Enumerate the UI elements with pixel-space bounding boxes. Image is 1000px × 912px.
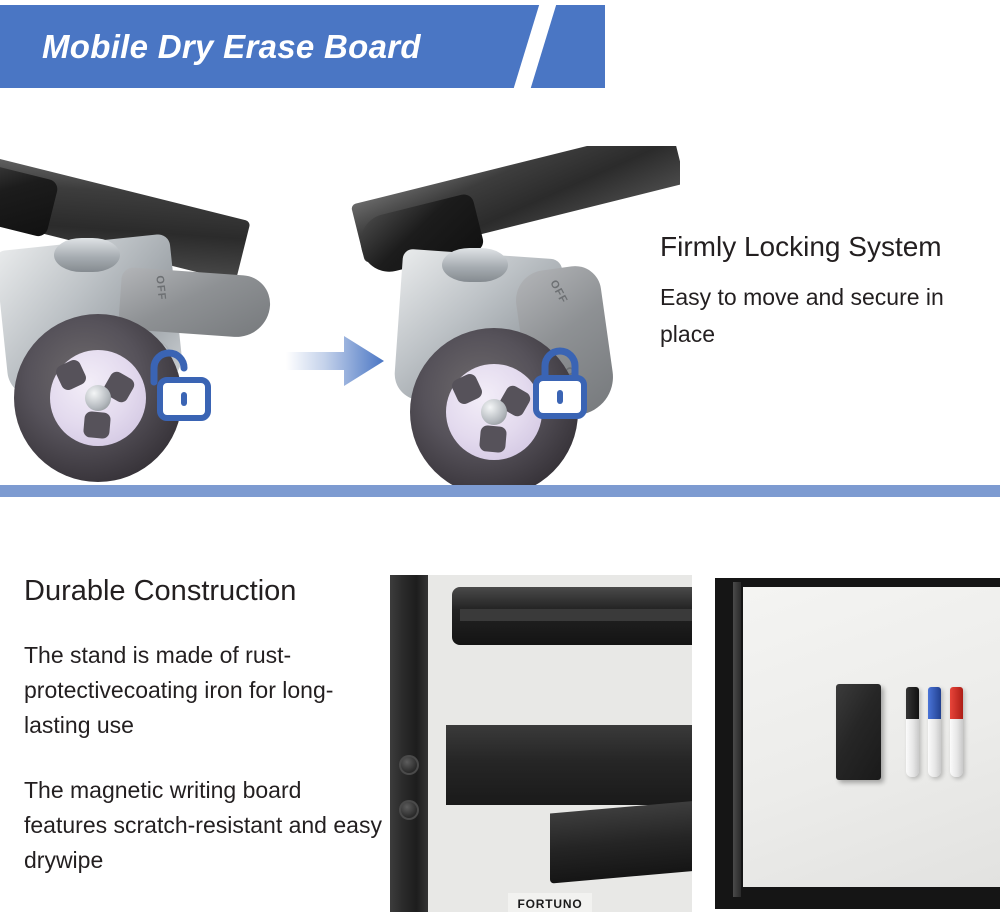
section-divider bbox=[0, 485, 1000, 497]
durable-construction-heading: Durable Construction bbox=[24, 575, 389, 608]
frame-vertical-post bbox=[390, 575, 428, 912]
locking-system-copy: Firmly Locking System Easy to move and s… bbox=[660, 231, 990, 354]
locking-system-body: Easy to move and secure in place bbox=[660, 279, 990, 354]
padlock-locked-icon bbox=[524, 342, 596, 431]
wheel-hub-bolt bbox=[85, 385, 111, 411]
frame-screw bbox=[399, 755, 419, 775]
black-marker bbox=[906, 687, 919, 777]
wheel-hub-bolt bbox=[481, 399, 507, 425]
caster-photo-locked: OFF ON bbox=[350, 146, 680, 486]
durable-construction-paragraph-2: The magnetic writing board features scra… bbox=[24, 773, 389, 878]
stand-frame-photo: FORTUNO bbox=[390, 575, 692, 912]
caster-swivel-joint bbox=[442, 248, 508, 282]
pen-tray bbox=[550, 800, 692, 883]
wheel-hub bbox=[50, 350, 146, 446]
wheel-hub-hole bbox=[54, 358, 89, 393]
durable-construction-paragraph-1: The stand is made of rust-protectivecoat… bbox=[24, 638, 389, 743]
locking-system-heading: Firmly Locking System bbox=[660, 231, 990, 263]
page-title: Mobile Dry Erase Board bbox=[42, 28, 421, 66]
header-banner: Mobile Dry Erase Board bbox=[0, 5, 605, 88]
durable-construction-copy: Durable Construction The stand is made o… bbox=[24, 575, 389, 908]
wheel-hub-hole bbox=[479, 425, 507, 453]
brake-label-off: OFF bbox=[153, 275, 168, 301]
frame-screw bbox=[399, 800, 419, 820]
locking-system-section: OFF bbox=[0, 146, 1000, 491]
board-frame-edge-inner bbox=[460, 609, 692, 621]
marker-cap bbox=[928, 687, 941, 719]
brand-label: FORTUNO bbox=[518, 897, 583, 911]
blue-marker bbox=[928, 687, 941, 777]
brand-plate: FORTUNO bbox=[508, 893, 592, 912]
wheel-hub-hole bbox=[450, 372, 485, 407]
caster-photo-unlocked: OFF bbox=[0, 146, 322, 486]
red-marker bbox=[950, 687, 963, 777]
whiteboard-frame-bevel bbox=[733, 582, 741, 897]
marker-cap bbox=[906, 687, 919, 719]
padlock-unlocked-icon bbox=[148, 344, 220, 433]
caster-swivel-joint bbox=[54, 238, 120, 272]
whiteboard-photo bbox=[715, 578, 1000, 909]
banner-slash-decoration bbox=[509, 5, 560, 88]
eraser bbox=[836, 684, 881, 780]
whiteboard-surface bbox=[743, 587, 1000, 887]
durable-construction-section: Durable Construction The stand is made o… bbox=[0, 497, 1000, 912]
wheel-hub-hole bbox=[83, 411, 111, 439]
frame-cross-bar: FORTUNO bbox=[446, 725, 692, 805]
marker-cap bbox=[950, 687, 963, 719]
